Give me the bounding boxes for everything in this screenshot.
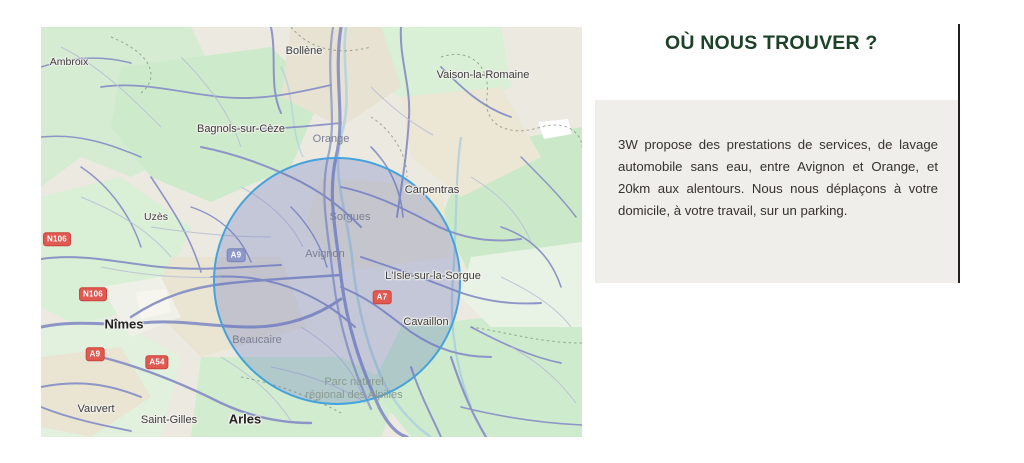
road-shield: A9 (86, 347, 105, 361)
description-card: 3W propose des prestations de services, … (595, 100, 958, 283)
vertical-divider (958, 24, 960, 283)
map-panel[interactable]: AmbroixBollèneVaison-la-RomaineBagnols-s… (41, 27, 582, 437)
road-shield: N106 (43, 232, 71, 246)
road-shield: N106 (79, 287, 107, 301)
map-canvas (41, 27, 582, 437)
road-shield: A54 (145, 355, 168, 369)
description-text: 3W propose des prestations de services, … (618, 134, 938, 222)
road-shield: A9 (227, 248, 246, 262)
road-shield: A7 (373, 290, 392, 304)
page-title: OÙ NOUS TROUVER ? (665, 32, 878, 55)
